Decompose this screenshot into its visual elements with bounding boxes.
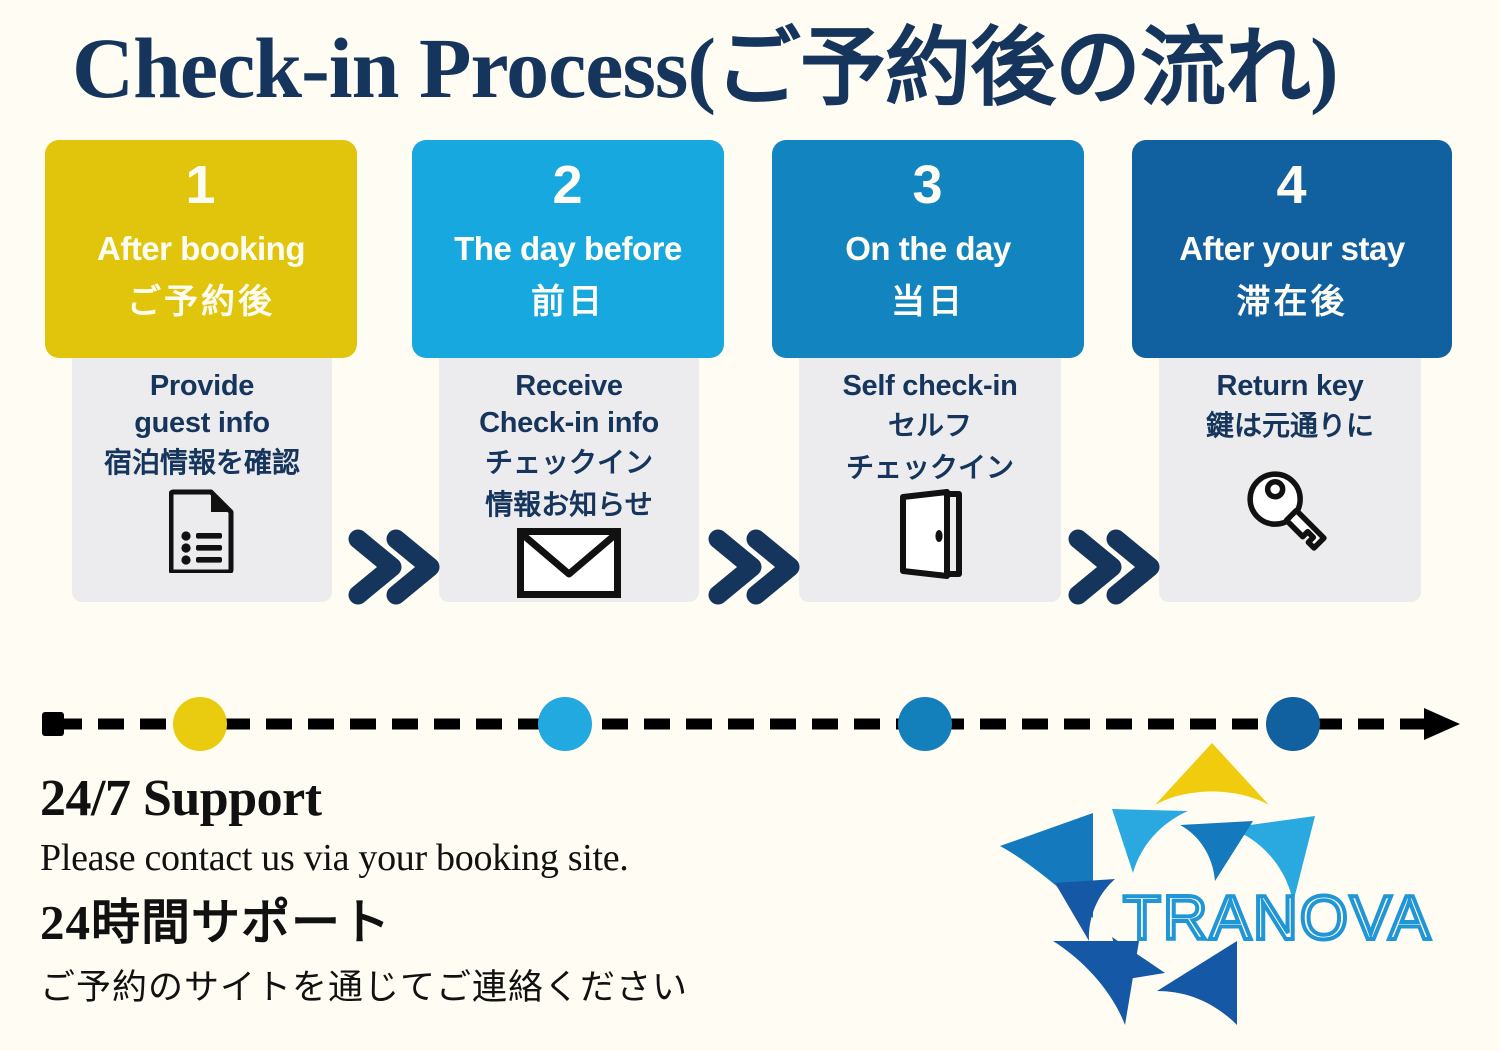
step-1-body-jp-line1: 宿泊情報を確認 <box>72 442 332 484</box>
double-chevron-right-icon <box>1068 525 1163 610</box>
step-2-number: 2 <box>412 148 724 222</box>
step-3-body-en-line1: Self check-in <box>799 368 1061 405</box>
logo-wordmark: TRANOVA <box>1123 884 1432 953</box>
process-step-4: 4 After your stay 滞在後 Return key 鍵は元通りに <box>1132 140 1452 358</box>
timeline-dot-step-3 <box>898 697 952 751</box>
envelope-icon <box>439 530 699 596</box>
step-3-body-jp-line1: セルフ <box>799 405 1061 447</box>
step-2-body-en-line1: Receive <box>439 368 699 405</box>
step-2-label-en: The day before <box>412 222 724 276</box>
support-text-en: Please contact us via your booking site. <box>40 830 920 886</box>
step-1-label-en: After booking <box>45 222 357 276</box>
step-3-header: 3 On the day 当日 <box>772 140 1084 358</box>
step-4-number: 4 <box>1132 148 1452 222</box>
tranova-logo: TRANOVA <box>975 733 1445 1043</box>
step-4-body-jp-line1: 鍵は元通りに <box>1159 405 1421 447</box>
step-1-label-jp: ご予約後 <box>45 276 357 328</box>
support-heading-jp: 24時間サポート <box>40 886 920 960</box>
step-3-label-en: On the day <box>772 222 1084 276</box>
step-3-body: Self check-in セルフ チェックイン <box>799 350 1061 602</box>
step-4-header: 4 After your stay 滞在後 <box>1132 140 1452 358</box>
support-section: 24/7 Support Please contact us via your … <box>40 768 920 1016</box>
step-3-number: 3 <box>772 148 1084 222</box>
step-1-body-en-line1: Provide <box>72 368 332 405</box>
support-heading-en: 24/7 Support <box>40 768 920 830</box>
document-list-icon <box>72 488 332 574</box>
step-1-header: 1 After booking ご予約後 <box>45 140 357 358</box>
step-1-body-en-line2: guest info <box>72 405 332 442</box>
step-3-body-jp-line2: チェックイン <box>799 447 1061 489</box>
open-door-icon <box>799 493 1061 575</box>
step-2-header: 2 The day before 前日 <box>412 140 724 358</box>
key-icon <box>1159 459 1421 569</box>
step-2-label-jp: 前日 <box>412 276 724 328</box>
step-2-body-jp-line2: 情報お知らせ <box>439 484 699 526</box>
double-chevron-right-icon <box>708 525 803 610</box>
step-4-body: Return key 鍵は元通りに <box>1159 350 1421 602</box>
step-1-body: Provide guest info 宿泊情報を確認 <box>72 350 332 602</box>
timeline-dot-step-1 <box>173 697 227 751</box>
process-steps: 1 After booking ご予約後 Provide guest info … <box>0 140 1500 670</box>
process-step-1: 1 After booking ご予約後 Provide guest info … <box>45 140 357 358</box>
step-4-body-en-line1: Return key <box>1159 368 1421 405</box>
step-2-body-en-line2: Check-in info <box>439 405 699 442</box>
step-4-label-jp: 滞在後 <box>1132 276 1452 328</box>
process-step-3: 3 On the day 当日 Self check-in セルフ チェックイン <box>772 140 1084 358</box>
step-2-body: Receive Check-in info チェックイン 情報お知らせ <box>439 350 699 602</box>
step-3-label-jp: 当日 <box>772 276 1084 328</box>
support-text-jp: ご予約のサイトを通じてご連絡ください <box>40 960 920 1016</box>
step-4-label-en: After your stay <box>1132 222 1452 276</box>
page-title: Check-in Process(ご予約後の流れ) <box>72 16 1452 121</box>
step-1-number: 1 <box>45 148 357 222</box>
timeline-dot-step-2 <box>538 697 592 751</box>
step-2-body-jp-line1: チェックイン <box>439 442 699 484</box>
double-chevron-right-icon <box>348 525 443 610</box>
process-step-2: 2 The day before 前日 Receive Check-in inf… <box>412 140 724 358</box>
